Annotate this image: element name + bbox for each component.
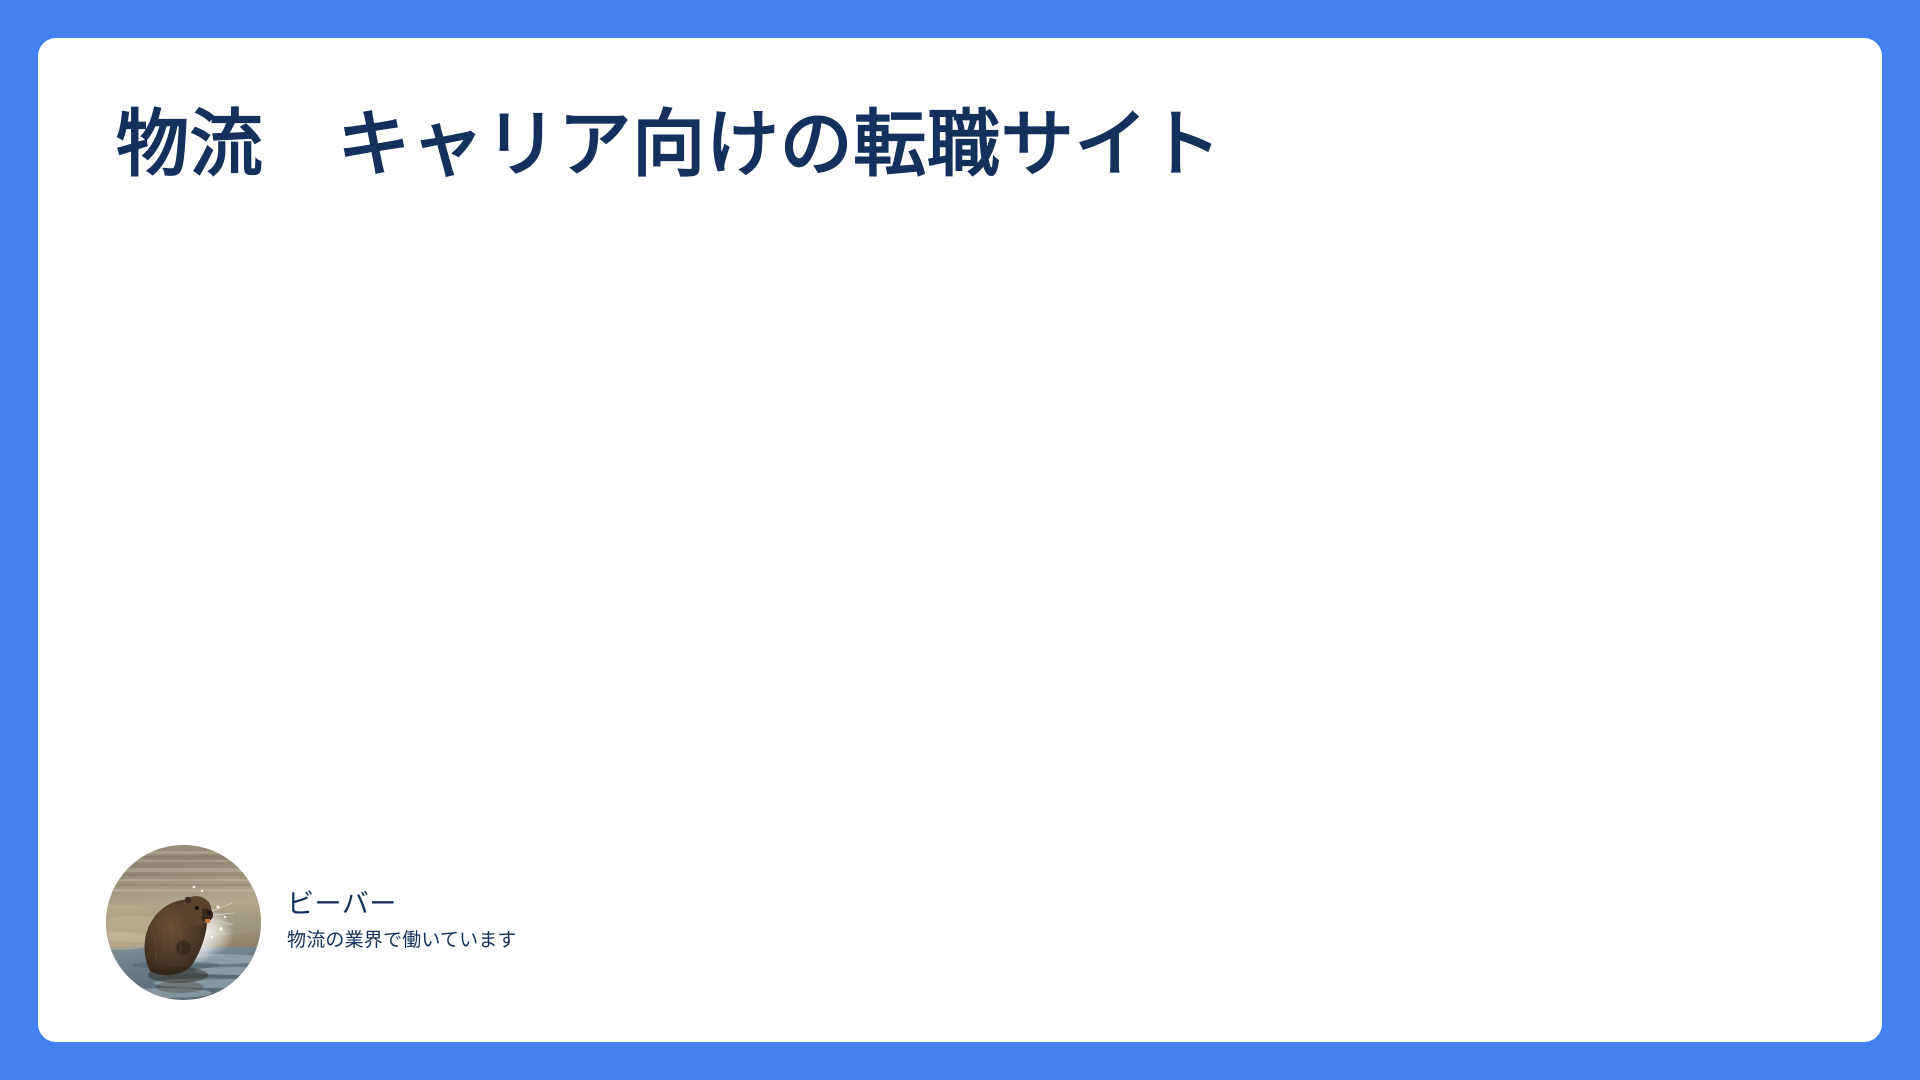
author-role: 物流の業界で働いています: [287, 930, 517, 953]
slide-root: 物流 キャリア向けの転職サイト: [0, 0, 1920, 1080]
slide-card: 物流 キャリア向けの転職サイト: [38, 38, 1882, 1042]
avatar: [106, 845, 261, 1000]
slide-content-area: [116, 238, 1804, 792]
author-name: ビーバー: [287, 888, 517, 920]
author-block: ビーバー 物流の業界で働いています: [106, 845, 517, 1000]
author-text: ビーバー 物流の業界で働いています: [287, 888, 517, 957]
page-title: 物流 キャリア向けの転職サイト: [116, 100, 1716, 189]
